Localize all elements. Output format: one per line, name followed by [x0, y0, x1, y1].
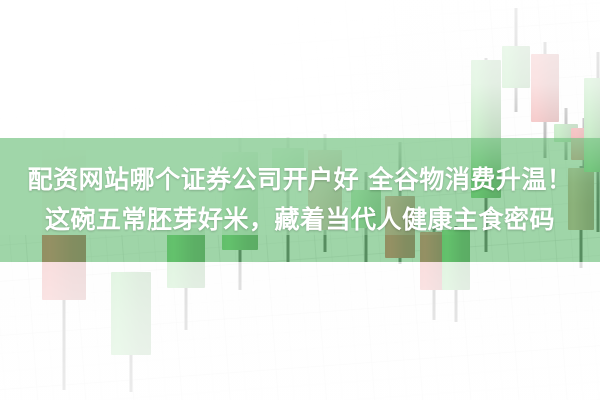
candlestick-body-up [111, 272, 151, 355]
candlestick [111, 272, 151, 392]
candlestick-body-up [502, 46, 530, 88]
thumbnail-canvas: 配资网站哪个证券公司开户好 全谷物消费升温！ 这碗五常胚芽好米，藏着当代人健康主… [0, 0, 600, 400]
headline-block: 配资网站哪个证券公司开户好 全谷物消费升温！ 这碗五常胚芽好米，藏着当代人健康主… [0, 138, 600, 262]
headline-line-1: 配资网站哪个证券公司开户好 全谷物消费升温！ [28, 162, 573, 198]
headline-line-2: 这碗五常胚芽好米，藏着当代人健康主食密码 [45, 202, 555, 238]
candlestick [502, 8, 530, 112]
